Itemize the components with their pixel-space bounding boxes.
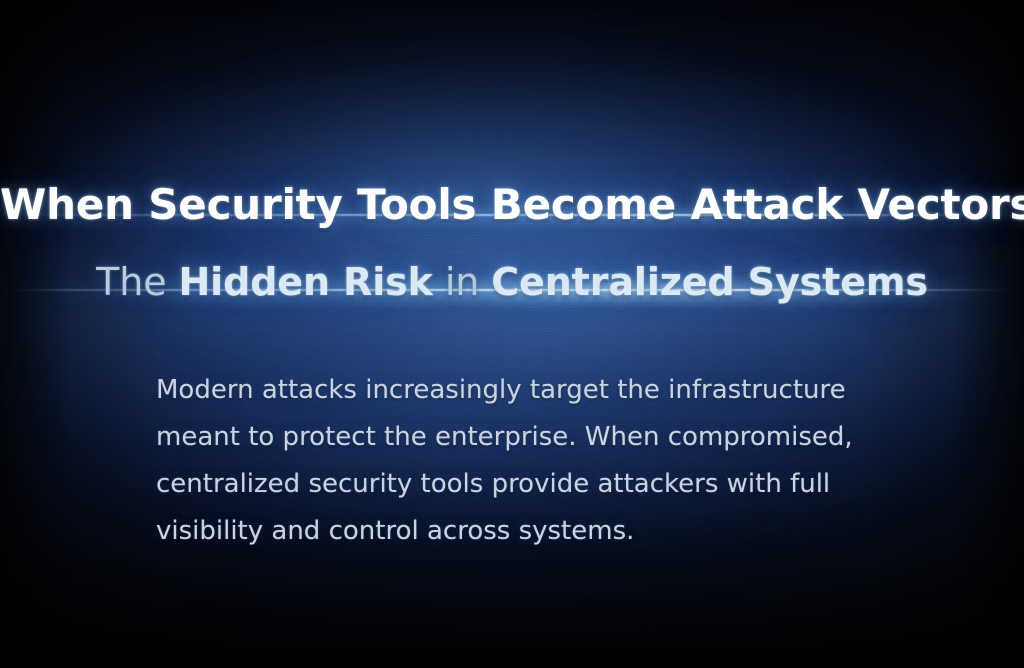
title-slide: When Security Tools Become Attack Vector… [0, 0, 1024, 668]
headline-secondary-part-centralized-systems: Centralized Systems [491, 260, 928, 304]
headline-secondary-part-hidden-risk: Hidden Risk [178, 260, 432, 304]
headline-secondary: The Hidden Risk in Centralized Systems [0, 260, 1024, 304]
headline-secondary-part-the: The [96, 260, 178, 304]
body-paragraph: Modern attacks increasingly target the i… [156, 367, 876, 555]
headline-secondary-part-in: in [433, 260, 491, 304]
slide-content: When Security Tools Become Attack Vector… [0, 0, 1024, 668]
headline-primary: When Security Tools Become Attack Vector… [0, 180, 1024, 229]
